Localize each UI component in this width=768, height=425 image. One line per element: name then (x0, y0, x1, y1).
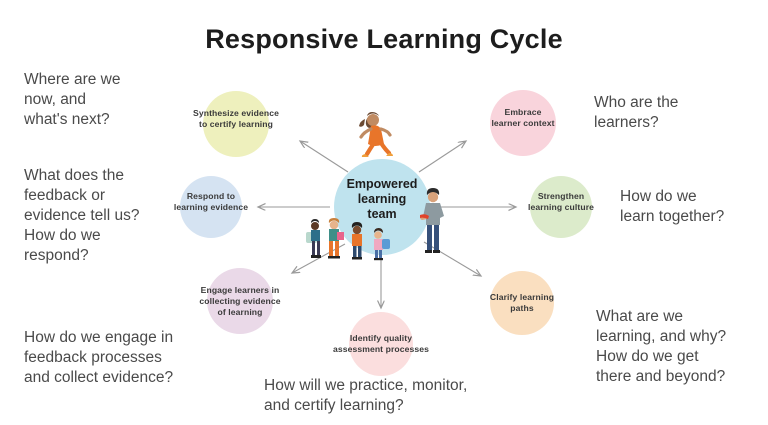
node-label-identify-quality-assessment: Identify quality assessment processes (311, 333, 451, 355)
question-where-are-we-now: Where are we now, and what's next? (24, 70, 194, 130)
question-what-does-feedback-tell-us: What does the feedback or evidence tell … (24, 166, 204, 266)
question-how-will-we-practice: How will we practice, monitor, and certi… (264, 376, 574, 416)
slide-canvas: Responsive Learning Cycle (0, 0, 768, 425)
illustration-students-group (302, 218, 398, 266)
question-how-do-we-learn-together: How do we learn together? (620, 187, 768, 227)
node-label-embrace-learner-context: Embrace learner context (468, 107, 578, 129)
node-label-strengthen-learning-culture: Strengthen learning culture (505, 191, 617, 213)
arrow-center-to-synthesize (300, 141, 348, 172)
center-node-label: Empowered learning team (334, 177, 430, 222)
node-label-clarify-learning-paths: Clarify learning paths (467, 292, 577, 314)
page-title: Responsive Learning Cycle (0, 24, 768, 55)
arrow-center-to-embrace (419, 141, 466, 172)
question-what-are-we-learning: What are we learning, and why? How do we… (596, 307, 768, 387)
question-who-are-the-learners: Who are the learners? (594, 93, 764, 133)
node-label-engage-learners: Engage learners in collecting evidence o… (178, 285, 302, 318)
question-how-do-we-engage-in-feedback: How do we engage in feedback processes a… (24, 328, 274, 388)
illustration-running-girl (352, 108, 398, 160)
